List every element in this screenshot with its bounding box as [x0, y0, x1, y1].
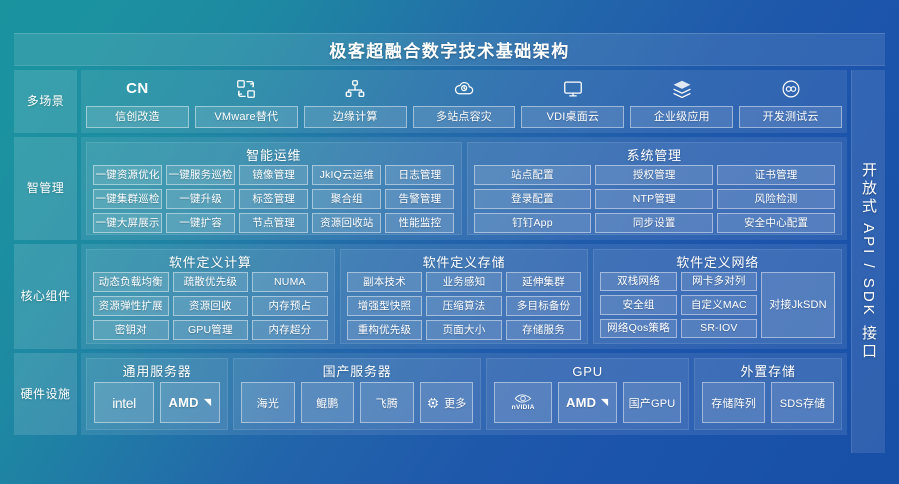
list-item[interactable]: 风险检测 [717, 189, 835, 209]
amd-gpu-logo[interactable]: AMD [558, 382, 616, 423]
amd-logo[interactable]: AMD [160, 382, 220, 423]
list-item[interactable]: 重构优先级 [347, 320, 423, 340]
list-item[interactable]: 网络Qos策略 [600, 319, 676, 338]
group-external-storage: 外置存储 存储阵列 SDS存储 [694, 358, 842, 430]
cloud-icon [453, 75, 476, 102]
group-title: GPU [494, 362, 681, 382]
group-software-defined-compute: 软件定义计算 动态负载均衡 疏散优先级 NUMA 资源弹性扩展 资源回收 内存预… [86, 249, 335, 344]
list-item[interactable]: 延伸集群 [506, 272, 582, 292]
list-item[interactable]: 副本技术 [347, 272, 423, 292]
group-domestic-server: 国产服务器 海光 鲲鹏 飞腾 [233, 358, 481, 430]
open-api-sdk-rail: 开放式 API / SDK 接口 [851, 70, 885, 453]
list-item[interactable]: 聚合组 [312, 189, 381, 209]
list-item[interactable]: NUMA [252, 272, 328, 292]
list-item[interactable]: 一键大屏展示 [93, 213, 162, 233]
list-item[interactable]: 资源回收站 [312, 213, 381, 233]
group-items: 海光 鲲鹏 飞腾 更多 [241, 382, 473, 423]
list-item[interactable]: 压缩算法 [426, 296, 502, 316]
scenario-label: VMware替代 [195, 106, 298, 128]
group-items: 站点配置 授权管理 证书管理 登录配置 NTP管理 风险检测 钉钉App 同步设… [474, 165, 836, 233]
group-system-management: 系统管理 站点配置 授权管理 证书管理 登录配置 NTP管理 风险检测 钉钉Ap… [467, 142, 843, 235]
chip-kunpeng[interactable]: 鲲鹏 [301, 382, 354, 423]
architecture-diagram: 极客超融合数字技术基础架构 多场景 CN 信创改造 [14, 33, 885, 453]
chip-feiteng[interactable]: 飞腾 [360, 382, 413, 423]
list-item[interactable]: 镜像管理 [239, 165, 308, 185]
list-item-jksdn[interactable]: 对接JkSDN [761, 272, 835, 338]
list-item[interactable]: 性能监控 [385, 213, 454, 233]
scenario-item-enterprise-app[interactable]: 企业级应用 [630, 75, 733, 128]
sds-storage[interactable]: SDS存储 [771, 382, 834, 423]
nvidia-logo[interactable]: nVIDIA [494, 382, 552, 423]
nvidia-logo-text: nVIDIA [512, 405, 535, 412]
network-sdn-tall-cell: 对接JkSDN [761, 272, 835, 338]
list-item[interactable]: 告警管理 [385, 189, 454, 209]
scenario-label: 信创改造 [86, 106, 189, 128]
scenario-label: VDI桌面云 [521, 106, 624, 128]
group-items: 一键资源优化 一键服务巡检 镜像管理 JkIQ云运维 日志管理 一键集群巡检 一… [93, 165, 455, 233]
chip-haiguang[interactable]: 海光 [241, 382, 294, 423]
list-item[interactable]: 内存超分 [252, 320, 328, 340]
amd-gpu-logo-text: AMD [566, 395, 596, 410]
infinity-circle-icon [780, 75, 802, 102]
chip-more-label: 更多 [444, 395, 466, 411]
layer-label-line-2: 组件 [46, 289, 71, 304]
list-item[interactable]: 内存预占 [252, 296, 328, 316]
list-item[interactable]: 一键扩容 [166, 213, 235, 233]
scenario-label: 多站点容灾 [413, 106, 516, 128]
layer-label-line-1: 核心 [20, 289, 45, 304]
group-items: intel AMD [94, 382, 220, 423]
scenario-body: CN 信创改造 [81, 70, 847, 133]
storage-array[interactable]: 存储阵列 [702, 382, 765, 423]
scenario-item-edge-computing[interactable]: 边缘计算 [304, 75, 407, 128]
scenario-label: 开发测试云 [739, 106, 842, 128]
list-item[interactable]: 业务感知 [426, 272, 502, 292]
list-item[interactable]: 多目标备份 [506, 296, 582, 316]
scenario-item-multisite-dr[interactable]: 多站点容灾 [413, 75, 516, 128]
layer-hardware: 硬件 设施 通用服务器 intel AMD [14, 353, 847, 435]
group-title: 通用服务器 [94, 362, 220, 382]
list-item[interactable]: 密钥对 [93, 320, 169, 340]
list-item[interactable]: 资源弹性扩展 [93, 296, 169, 316]
list-item[interactable]: 钉钉App [474, 213, 592, 233]
list-item[interactable]: 一键服务巡检 [166, 165, 235, 185]
list-item[interactable]: 一键资源优化 [93, 165, 162, 185]
nvidia-logo-mark: nVIDIA [512, 393, 535, 412]
management-body: 智能运维 一键资源优化 一键服务巡检 镜像管理 JkIQ云运维 日志管理 一键集… [81, 137, 847, 240]
amd-arrow-icon [203, 398, 212, 407]
intel-logo[interactable]: intel [94, 382, 154, 423]
list-item[interactable]: GPU管理 [173, 320, 249, 340]
layer-label-scenario: 多场景 [14, 70, 77, 133]
list-item[interactable]: JkIQ云运维 [312, 165, 381, 185]
list-item[interactable]: 资源回收 [173, 296, 249, 316]
hardware-body: 通用服务器 intel AMD [81, 353, 847, 435]
list-item[interactable]: 节点管理 [239, 213, 308, 233]
group-title: 智能运维 [93, 146, 455, 165]
domestic-gpu[interactable]: 国产GPU [623, 382, 681, 423]
open-api-sdk-label: 开放式 API / SDK 接口 [858, 162, 879, 361]
network-items-grid: 双栈网络 网卡多对列 安全组 自定义MAC 网络Qos策略 SR-IOV [600, 272, 757, 338]
layers-icon [671, 75, 693, 102]
nvidia-eye-icon [513, 393, 533, 404]
list-item[interactable]: 一键升级 [166, 189, 235, 209]
list-item[interactable]: 同步设置 [595, 213, 713, 233]
hardware-groups: 通用服务器 intel AMD [86, 358, 842, 430]
scenario-grid: CN 信创改造 [86, 75, 842, 128]
list-item[interactable]: 双栈网络 [600, 272, 676, 291]
page-title: 极客超融合数字技术基础架构 [329, 37, 570, 62]
layer-label-hardware: 硬件 设施 [14, 353, 77, 435]
list-item[interactable]: NTP管理 [595, 189, 713, 209]
list-item[interactable]: 动态负载均衡 [93, 272, 169, 292]
diagram-title-bar: 极客超融合数字技术基础架构 [14, 33, 885, 66]
group-title: 系统管理 [474, 146, 836, 165]
chip-icon [426, 396, 440, 410]
layer-core-components: 核心 组件 软件定义计算 动态负载均衡 疏散优先级 NUMA 资源弹性扩展 资源… [14, 244, 847, 349]
layer-label-core: 核心 组件 [14, 244, 77, 349]
scenario-label: 边缘计算 [304, 106, 407, 128]
amd-logo-text: AMD [168, 395, 198, 410]
group-title: 软件定义网络 [600, 253, 835, 272]
list-item[interactable]: 安全组 [600, 295, 676, 314]
chip-more[interactable]: 更多 [420, 382, 473, 423]
intel-logo-text: intel [112, 395, 136, 411]
list-item[interactable]: 增强型快照 [347, 296, 423, 316]
scenario-item-xinchuang[interactable]: CN 信创改造 [86, 75, 189, 128]
monitor-icon [562, 75, 584, 102]
layer-label-line-2: 设施 [46, 387, 71, 402]
scenario-item-devtest-cloud[interactable]: 开发测试云 [739, 75, 842, 128]
group-title: 软件定义计算 [93, 253, 328, 272]
list-item[interactable]: 一键集群巡检 [93, 189, 162, 209]
group-items: 存储阵列 SDS存储 [702, 382, 834, 423]
scenario-item-vdi[interactable]: VDI桌面云 [521, 75, 624, 128]
group-software-defined-storage: 软件定义存储 副本技术 业务感知 延伸集群 增强型快照 压缩算法 多目标备份 重… [340, 249, 589, 344]
list-item[interactable]: 页面大小 [426, 320, 502, 340]
list-item[interactable]: 证书管理 [717, 165, 835, 185]
list-item[interactable]: 授权管理 [595, 165, 713, 185]
list-item[interactable]: 疏散优先级 [173, 272, 249, 292]
list-item[interactable]: 自定义MAC [681, 295, 757, 314]
group-gpu: GPU nVIDIA [486, 358, 689, 430]
group-general-server: 通用服务器 intel AMD [86, 358, 228, 430]
amd-arrow-icon [600, 398, 609, 407]
list-item[interactable]: 标签管理 [239, 189, 308, 209]
list-item[interactable]: 日志管理 [385, 165, 454, 185]
group-intelligent-ops: 智能运维 一键资源优化 一键服务巡检 镜像管理 JkIQ云运维 日志管理 一键集… [86, 142, 462, 235]
layer-label-management: 智管理 [14, 137, 77, 240]
group-title: 外置存储 [702, 362, 834, 382]
group-items: 动态负载均衡 疏散优先级 NUMA 资源弹性扩展 资源回收 内存预占 密钥对 G… [93, 272, 328, 340]
group-software-defined-network: 软件定义网络 双栈网络 网卡多对列 安全组 自定义MAC 网络Qos策略 SR-… [593, 249, 842, 344]
layer-rows: 多场景 CN 信创改造 [14, 70, 847, 453]
scenario-item-vmware[interactable]: VMware替代 [195, 75, 298, 128]
core-body: 软件定义计算 动态负载均衡 疏散优先级 NUMA 资源弹性扩展 资源回收 内存预… [81, 244, 847, 349]
list-item[interactable]: 安全中心配置 [717, 213, 835, 233]
list-item[interactable]: SR-IOV [681, 319, 757, 338]
layer-label-line-1: 硬件 [20, 387, 45, 402]
network-tree-icon [344, 75, 366, 102]
diagram-body: 多场景 CN 信创改造 [14, 70, 885, 453]
group-items: 双栈网络 网卡多对列 安全组 自定义MAC 网络Qos策略 SR-IOV 对接J… [600, 272, 835, 338]
migration-icon [235, 75, 257, 102]
group-items: nVIDIA AMD 国产GPU [494, 382, 681, 423]
list-item[interactable]: 站点配置 [474, 165, 592, 185]
group-items: 副本技术 业务感知 延伸集群 增强型快照 压缩算法 多目标备份 重构优先级 页面… [347, 272, 582, 340]
list-item[interactable]: 登录配置 [474, 189, 592, 209]
layer-management: 智管理 智能运维 一键资源优化 一键服务巡检 镜像管理 JkIQ云运维 日志管理… [14, 137, 847, 240]
layer-scenario: 多场景 CN 信创改造 [14, 70, 847, 133]
group-title: 软件定义存储 [347, 253, 582, 272]
list-item[interactable]: 网卡多对列 [681, 272, 757, 291]
scenario-label: 企业级应用 [630, 106, 733, 128]
group-title: 国产服务器 [241, 362, 473, 382]
cn-text-icon: CN [126, 75, 149, 102]
list-item[interactable]: 存储服务 [506, 320, 582, 340]
